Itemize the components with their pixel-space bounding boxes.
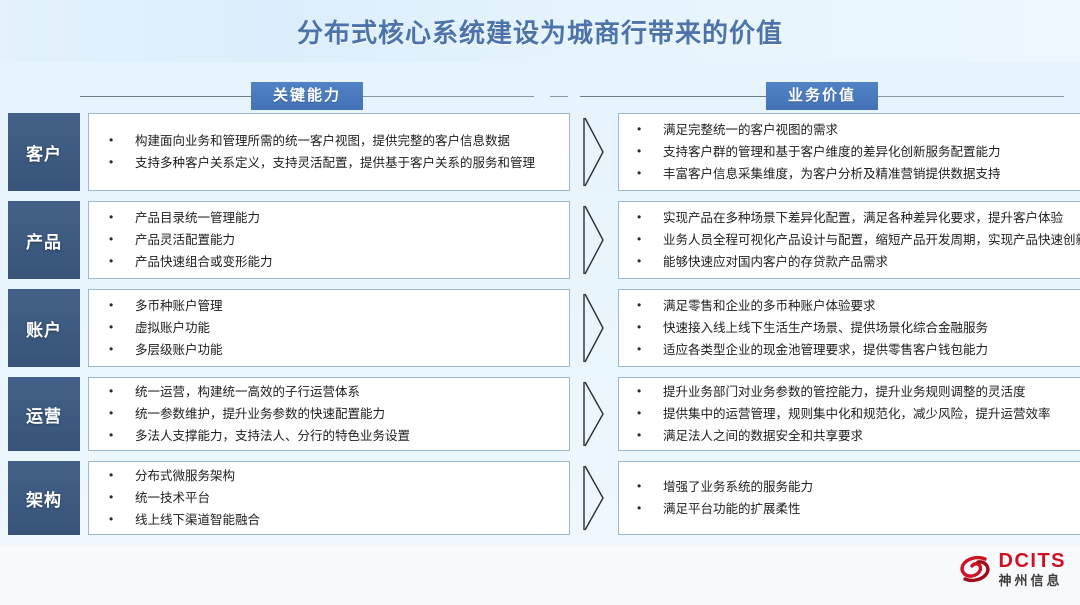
value-list: 满足零售和企业的多币种账户体验要求 快速接入线上线下生活生产场景、提供场景化综合… bbox=[619, 287, 1080, 370]
row-tag-operations[interactable]: 运营 bbox=[8, 377, 80, 451]
right-column-header: 业务价值 bbox=[580, 82, 1072, 110]
list-item: 提供集中的运营管理，规则集中化和规范化，减少风险，提升运营效率 bbox=[635, 406, 1080, 423]
list-item: 统一参数维护，提升业务参数的快速配置能力 bbox=[107, 406, 559, 423]
list-item: 满足零售和企业的多币种账户体验要求 bbox=[635, 298, 1080, 315]
list-item: 满足完整统一的客户视图的需求 bbox=[635, 122, 1080, 139]
slide-canvas: 分布式核心系统建设为城商行带来的价值 关键能力 业务价值 客户 构建面向业务和管… bbox=[0, 0, 1080, 605]
list-item: 实现产品在多种场景下差异化配置，满足各种差异化要求，提升客户体验 bbox=[635, 210, 1080, 227]
page-title: 分布式核心系统建设为城商行带来的价值 bbox=[297, 13, 783, 50]
capabilities-panel: 产品目录统一管理能力 产品灵活配置能力 产品快速组合或变形能力 bbox=[88, 201, 570, 279]
header-rule-left-c bbox=[550, 96, 568, 97]
list-item: 构建面向业务和管理所需的统一客户视图，提供完整的客户信息数据 bbox=[107, 133, 559, 150]
list-item: 快速接入线上线下生活生产场景、提供场景化综合金融服务 bbox=[635, 320, 1080, 337]
values-panel: 增强了业务系统的服务能力 满足平台功能的扩展柔性 bbox=[618, 461, 1080, 535]
right-column-title: 业务价值 bbox=[766, 82, 878, 110]
chevron-right-icon bbox=[581, 380, 607, 448]
list-item: 满足平台功能的扩展柔性 bbox=[635, 501, 1080, 518]
header-rule-left-b bbox=[363, 96, 534, 97]
row-tag-customer[interactable]: 客户 bbox=[8, 113, 80, 191]
list-item: 统一技术平台 bbox=[107, 490, 559, 507]
list-item: 丰富客户信息采集维度，为客户分析及精准营销提供数据支持 bbox=[635, 166, 1080, 183]
list-item: 能够快速应对国内客户的存贷款产品需求 bbox=[635, 254, 1080, 271]
values-panel: 实现产品在多种场景下差异化配置，满足各种差异化要求，提升客户体验 业务人员全程可… bbox=[618, 201, 1080, 279]
chevron-right-icon bbox=[581, 116, 607, 188]
row-tag-label: 产品 bbox=[26, 228, 62, 253]
list-item: 支持客户群的管理和基于客户维度的差异化创新服务配置能力 bbox=[635, 144, 1080, 161]
row-tag-architecture[interactable]: 架构 bbox=[8, 461, 80, 535]
flow-arrow-cell bbox=[570, 377, 618, 451]
capabilities-panel: 多币种账户管理 虚拟账户功能 多层级账户功能 bbox=[88, 289, 570, 367]
list-item: 统一运营，构建统一高效的子行运营体系 bbox=[107, 384, 559, 401]
list-item: 产品快速组合或变形能力 bbox=[107, 254, 559, 271]
title-banner: 分布式核心系统建设为城商行带来的价值 bbox=[0, 0, 1080, 62]
list-item: 多层级账户功能 bbox=[107, 342, 559, 359]
row-tag-label: 账户 bbox=[26, 316, 62, 341]
list-item: 产品目录统一管理能力 bbox=[107, 210, 559, 227]
value-list: 满足完整统一的客户视图的需求 支持客户群的管理和基于客户维度的差异化创新服务配置… bbox=[619, 111, 1080, 194]
header-rule-left-a bbox=[80, 96, 251, 97]
value-list: 实现产品在多种场景下差异化配置，满足各种差异化要求，提升客户体验 业务人员全程可… bbox=[619, 199, 1080, 282]
capabilities-panel: 分布式微服务架构 统一技术平台 线上线下渠道智能融合 bbox=[88, 461, 570, 535]
list-item: 多法人支撑能力，支持法人、分行的特色业务设置 bbox=[107, 428, 559, 445]
list-item: 适应各类型企业的现金池管理要求，提供零售客户钱包能力 bbox=[635, 342, 1080, 359]
table-row: 账户 多币种账户管理 虚拟账户功能 多层级账户功能 满足零售和企业的多币种账户体… bbox=[0, 289, 1080, 367]
row-tag-account[interactable]: 账户 bbox=[8, 289, 80, 367]
row-tag-label: 客户 bbox=[26, 140, 62, 165]
slide-footer: DCITS 神州信息 bbox=[0, 545, 1080, 605]
table-row: 架构 分布式微服务架构 统一技术平台 线上线下渠道智能融合 增强了业务系统的服务… bbox=[0, 461, 1080, 535]
chevron-right-icon bbox=[581, 292, 607, 364]
list-item: 分布式微服务架构 bbox=[107, 468, 559, 485]
list-item: 多币种账户管理 bbox=[107, 298, 559, 315]
capability-list: 构建面向业务和管理所需的统一客户视图，提供完整的客户信息数据 支持多种客户关系定… bbox=[89, 122, 569, 183]
capability-list: 分布式微服务架构 统一技术平台 线上线下渠道智能融合 bbox=[89, 457, 569, 540]
chevron-right-icon bbox=[581, 204, 607, 276]
values-panel: 满足完整统一的客户视图的需求 支持客户群的管理和基于客户维度的差异化创新服务配置… bbox=[618, 113, 1080, 191]
capabilities-panel: 统一运营，构建统一高效的子行运营体系 统一参数维护，提升业务参数的快速配置能力 … bbox=[88, 377, 570, 451]
chevron-right-icon bbox=[581, 464, 607, 532]
list-item: 增强了业务系统的服务能力 bbox=[635, 479, 1080, 496]
flow-arrow-cell bbox=[570, 113, 618, 191]
company-logo: DCITS 神州信息 bbox=[958, 551, 1067, 587]
table-row: 产品 产品目录统一管理能力 产品灵活配置能力 产品快速组合或变形能力 实现产品在… bbox=[0, 201, 1080, 279]
capability-list: 统一运营，构建统一高效的子行运营体系 统一参数维护，提升业务参数的快速配置能力 … bbox=[89, 373, 569, 456]
row-tag-product[interactable]: 产品 bbox=[8, 201, 80, 279]
list-item: 满足法人之间的数据安全和共享要求 bbox=[635, 428, 1080, 445]
value-list: 提升业务部门对业务参数的管控能力，提升业务规则调整的灵活度 提供集中的运营管理，… bbox=[619, 373, 1080, 456]
header-rule-right-a bbox=[580, 96, 766, 97]
row-tag-label: 架构 bbox=[26, 486, 62, 511]
flow-arrow-cell bbox=[570, 289, 618, 367]
dcits-swirl-icon bbox=[958, 552, 992, 586]
values-panel: 满足零售和企业的多币种账户体验要求 快速接入线上线下生活生产场景、提供场景化综合… bbox=[618, 289, 1080, 367]
left-column-title: 关键能力 bbox=[251, 82, 363, 110]
list-item: 业务人员全程可视化产品设计与配置，缩短产品开发周期，实现产品快速创新 bbox=[635, 232, 1080, 249]
values-panel: 提升业务部门对业务参数的管控能力，提升业务规则调整的灵活度 提供集中的运营管理，… bbox=[618, 377, 1080, 451]
list-item: 提升业务部门对业务参数的管控能力，提升业务规则调整的灵活度 bbox=[635, 384, 1080, 401]
capability-list: 产品目录统一管理能力 产品灵活配置能力 产品快速组合或变形能力 bbox=[89, 199, 569, 282]
list-item: 支持多种客户关系定义，支持灵活配置，提供基于客户关系的服务和管理 bbox=[107, 155, 559, 172]
flow-arrow-cell bbox=[570, 201, 618, 279]
list-item: 虚拟账户功能 bbox=[107, 320, 559, 337]
capability-list: 多币种账户管理 虚拟账户功能 多层级账户功能 bbox=[89, 287, 569, 370]
row-tag-label: 运营 bbox=[26, 402, 62, 427]
left-column-header: 关键能力 bbox=[8, 82, 568, 110]
value-list: 增强了业务系统的服务能力 满足平台功能的扩展柔性 bbox=[619, 468, 1080, 529]
logo-chinese-name: 神州信息 bbox=[999, 574, 1067, 587]
list-item: 产品灵活配置能力 bbox=[107, 232, 559, 249]
list-item: 线上线下渠道智能融合 bbox=[107, 512, 559, 529]
capabilities-panel: 构建面向业务和管理所需的统一客户视图，提供完整的客户信息数据 支持多种客户关系定… bbox=[88, 113, 570, 191]
header-rule-right-b bbox=[878, 96, 1064, 97]
comparison-rows: 客户 构建面向业务和管理所需的统一客户视图，提供完整的客户信息数据 支持多种客户… bbox=[0, 113, 1080, 545]
logo-wordmark: DCITS 神州信息 bbox=[999, 551, 1067, 587]
logo-english-name: DCITS bbox=[999, 551, 1067, 571]
table-row: 客户 构建面向业务和管理所需的统一客户视图，提供完整的客户信息数据 支持多种客户… bbox=[0, 113, 1080, 191]
flow-arrow-cell bbox=[570, 461, 618, 535]
table-row: 运营 统一运营，构建统一高效的子行运营体系 统一参数维护，提升业务参数的快速配置… bbox=[0, 377, 1080, 451]
